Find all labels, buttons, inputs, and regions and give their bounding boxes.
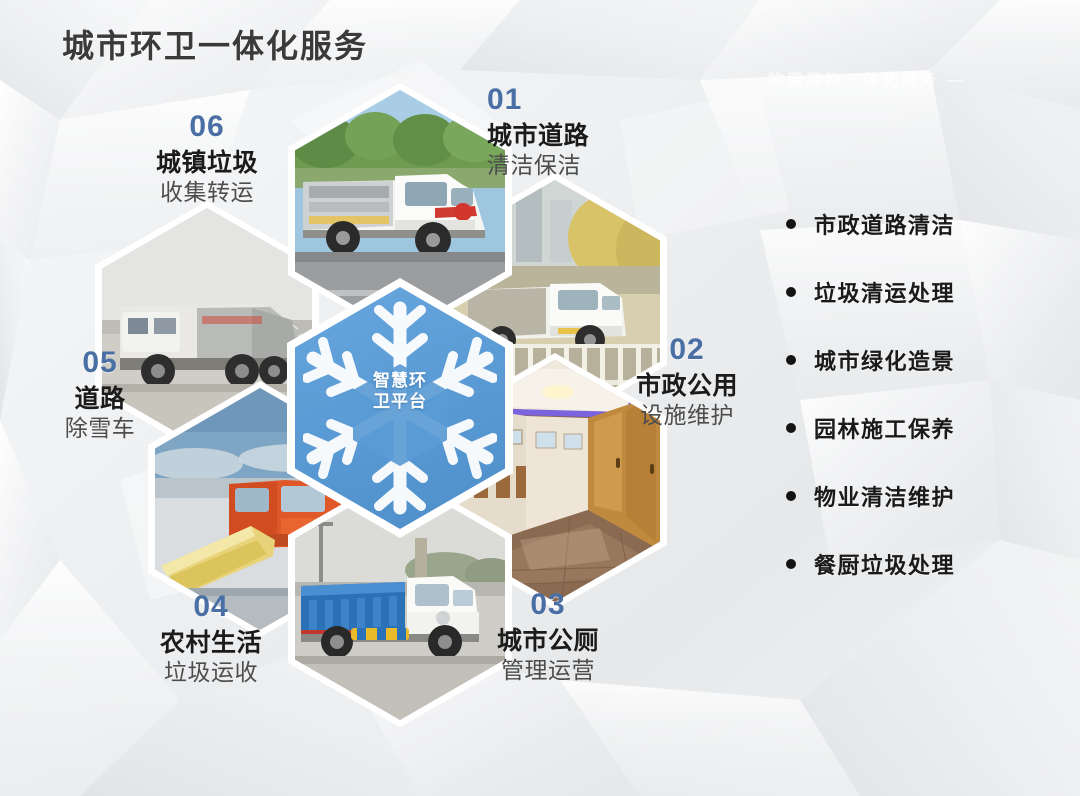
list-item[interactable]: 市政道路清洁 <box>786 190 1056 258</box>
list-item[interactable]: 城市绿化造景 <box>786 326 1056 394</box>
bullet-dot-icon <box>786 219 796 229</box>
callout-01: 01 城市道路 清洁保洁 <box>487 85 589 178</box>
callout-line2: 清洁保洁 <box>487 152 589 178</box>
page-title: 城市环卫一体化服务 <box>62 21 368 67</box>
callout-line2: 收集转运 <box>148 179 266 205</box>
callout-number: 04 <box>152 592 270 622</box>
center-hexagon-label: 智慧环 卫平台 <box>340 370 460 413</box>
center-label-line1: 智慧环 <box>340 370 460 391</box>
bullet-dot-icon <box>786 423 796 433</box>
list-item-label: 餐厨垃圾处理 <box>814 548 955 580</box>
callout-line1: 城镇垃圾 <box>148 149 266 177</box>
callout-number: 02 <box>628 335 746 365</box>
list-item[interactable]: 物业清洁维护 <box>786 462 1056 530</box>
callout-05: 05 道路 除雪车 <box>52 348 148 441</box>
callout-line1: 农村生活 <box>152 629 270 657</box>
callout-line1: 城市公厕 <box>489 627 607 655</box>
list-item-label: 园林施工保养 <box>814 412 955 444</box>
callout-line1: 城市道路 <box>487 122 589 150</box>
callout-line2: 除雪车 <box>52 415 148 441</box>
bullet-dot-icon <box>786 287 796 297</box>
callout-line2: 设施维护 <box>628 402 746 428</box>
callout-06: 06 城镇垃圾 收集转运 <box>148 112 266 205</box>
callout-line2: 管理运营 <box>489 657 607 683</box>
callout-line1: 市政公用 <box>628 372 746 400</box>
list-item-label: 物业清洁维护 <box>814 480 955 512</box>
list-item[interactable]: 垃圾清运处理 <box>786 258 1056 326</box>
callout-04: 04 农村生活 垃圾运收 <box>152 592 270 685</box>
callout-number: 01 <box>487 85 589 115</box>
callout-number: 05 <box>52 348 148 378</box>
list-item[interactable]: 餐厨垃圾处理 <box>786 530 1056 598</box>
list-item-label: 城市绿化造景 <box>814 344 955 376</box>
callout-02: 02 市政公用 设施维护 <box>628 335 746 428</box>
callout-03: 03 城市公厕 管理运营 <box>489 590 607 683</box>
callout-line2: 垃圾运收 <box>152 659 270 685</box>
list-item-label: 垃圾清运处理 <box>814 276 955 308</box>
slide-canvas: 城市环卫一体化服务 物废弃物一体化服务 — <box>0 0 1080 796</box>
service-list: 市政道路清洁 垃圾清运处理 城市绿化造景 园林施工保养 物业清洁维护 餐厨垃圾处… <box>786 190 1056 598</box>
bullet-dot-icon <box>786 491 796 501</box>
callout-number: 06 <box>148 112 266 142</box>
center-label-line2: 卫平台 <box>340 391 460 412</box>
bullet-dot-icon <box>786 355 796 365</box>
list-item-label: 市政道路清洁 <box>814 208 955 240</box>
callout-number: 03 <box>489 590 607 620</box>
watermark-text: 物废弃物一体化服务 — <box>768 66 965 90</box>
callout-line1: 道路 <box>52 385 148 413</box>
list-item[interactable]: 园林施工保养 <box>786 394 1056 462</box>
bullet-dot-icon <box>786 559 796 569</box>
